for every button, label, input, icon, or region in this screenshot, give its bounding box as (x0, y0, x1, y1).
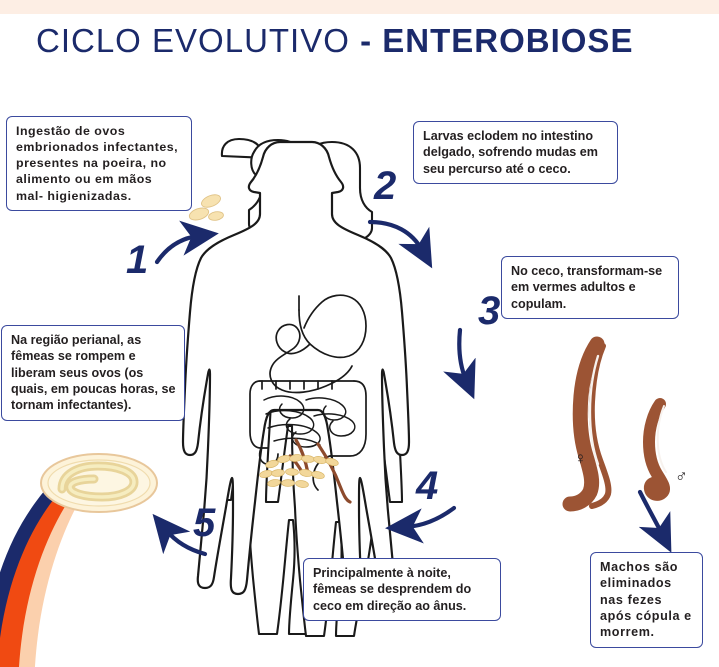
adult-male-pinworm (649, 404, 666, 495)
page-title: CICLO EVOLUTIVO - ENTEROBIOSE (36, 22, 633, 60)
callout-step-3: No ceco, transformam-se em vermes adulto… (501, 256, 679, 319)
rectum (313, 456, 330, 490)
arrow-2-down-right (370, 222, 422, 250)
large-intestine (250, 381, 366, 456)
cecum (260, 448, 278, 465)
small-intestine-coils (264, 396, 355, 447)
callout-step-5: Na região perianal, as fêmeas se rompem … (1, 325, 185, 421)
callout-step-1: Ingestão de ovos embrionados infectantes… (6, 116, 192, 211)
callout-step-4: Principalmente à noite, fêmeas se despre… (303, 558, 501, 621)
title-separator: - (360, 22, 372, 59)
male-symbol-icon: ♂ (675, 468, 688, 485)
worms-perianal-region (290, 440, 350, 502)
title-main: CICLO EVOLUTIVO (36, 22, 350, 59)
eggs-near-mouth (188, 192, 224, 222)
small-intestine-upper (270, 324, 352, 392)
step-number-5: 5 (193, 503, 215, 543)
corner-arc-decoration (0, 468, 88, 667)
step-number-2: 2 (374, 166, 396, 206)
arrow-3-down (459, 330, 466, 380)
step-number-1: 1 (126, 240, 148, 280)
title-subject: ENTEROBIOSE (382, 22, 633, 59)
arrow-4-down-left (406, 508, 454, 527)
arrow-males-down (640, 492, 662, 534)
callout-step-2: Larvas eclodem no intestino delgado, sof… (413, 121, 618, 184)
female-symbol-icon: ♀ (574, 450, 587, 467)
callout-males-eliminated: Machos são eliminados nas fezes após cóp… (590, 552, 703, 648)
eggs-perianal-region (259, 454, 339, 489)
stomach (299, 295, 366, 357)
enterobiasis-life-cycle-diagram: CICLO EVOLUTIVO - ENTEROBIOSE (0, 0, 719, 667)
step-number-3: 3 (478, 291, 500, 331)
arrow-1-up-right (157, 236, 198, 262)
human-figure (183, 142, 409, 594)
step-number-4: 4 (416, 466, 438, 506)
top-decorative-band (0, 0, 719, 14)
adult-female-pinworm (570, 344, 608, 506)
